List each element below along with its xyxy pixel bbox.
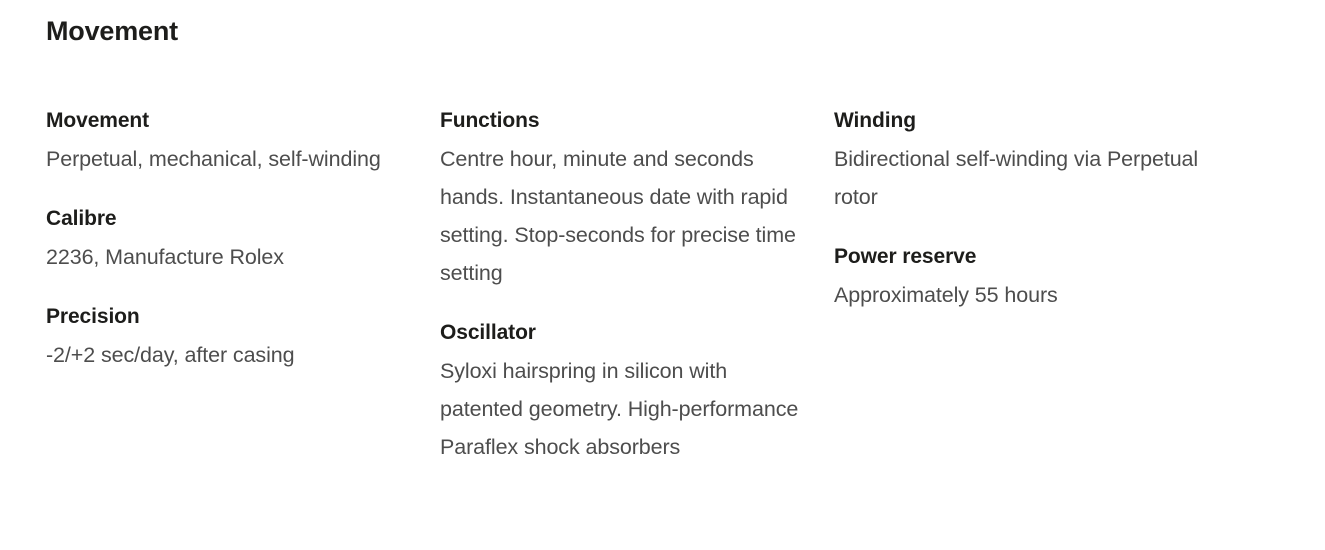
spec-term-movement: Movement [46, 102, 416, 140]
spec-column-1: Movement Perpetual, mechanical, self-win… [46, 102, 416, 374]
spec-block-functions: Functions Centre hour, minute and second… [440, 102, 810, 292]
spec-description-precision: -2/+2 sec/day, after casing [46, 336, 416, 374]
spec-column-3: Winding Bidirectional self-winding via P… [834, 102, 1204, 314]
spec-block-precision: Precision -2/+2 sec/day, after casing [46, 298, 416, 374]
spec-description-functions: Centre hour, minute and seconds hands. I… [440, 140, 810, 292]
spec-description-power-reserve: Approximately 55 hours [834, 276, 1204, 314]
spec-description-movement: Perpetual, mechanical, self-winding [46, 140, 416, 178]
page-title: Movement [46, 0, 1325, 48]
spec-term-calibre: Calibre [46, 200, 416, 238]
spec-block-movement: Movement Perpetual, mechanical, self-win… [46, 102, 416, 178]
spec-column-2: Functions Centre hour, minute and second… [440, 102, 810, 466]
spec-term-functions: Functions [440, 102, 810, 140]
spec-term-winding: Winding [834, 102, 1204, 140]
spec-description-calibre: 2236, Manufacture Rolex [46, 238, 416, 276]
specification-columns: Movement Perpetual, mechanical, self-win… [46, 102, 1325, 466]
spec-block-oscillator: Oscillator Syloxi hairspring in silicon … [440, 314, 810, 466]
spec-block-winding: Winding Bidirectional self-winding via P… [834, 102, 1204, 216]
spec-block-calibre: Calibre 2236, Manufacture Rolex [46, 200, 416, 276]
spec-term-power-reserve: Power reserve [834, 238, 1204, 276]
spec-term-precision: Precision [46, 298, 416, 336]
movement-specifications-page: Movement Movement Perpetual, mechanical,… [0, 0, 1325, 550]
spec-block-power-reserve: Power reserve Approximately 55 hours [834, 238, 1204, 314]
spec-description-oscillator: Syloxi hairspring in silicon with patent… [440, 352, 810, 466]
spec-description-winding: Bidirectional self-winding via Perpetual… [834, 140, 1204, 216]
spec-term-oscillator: Oscillator [440, 314, 810, 352]
